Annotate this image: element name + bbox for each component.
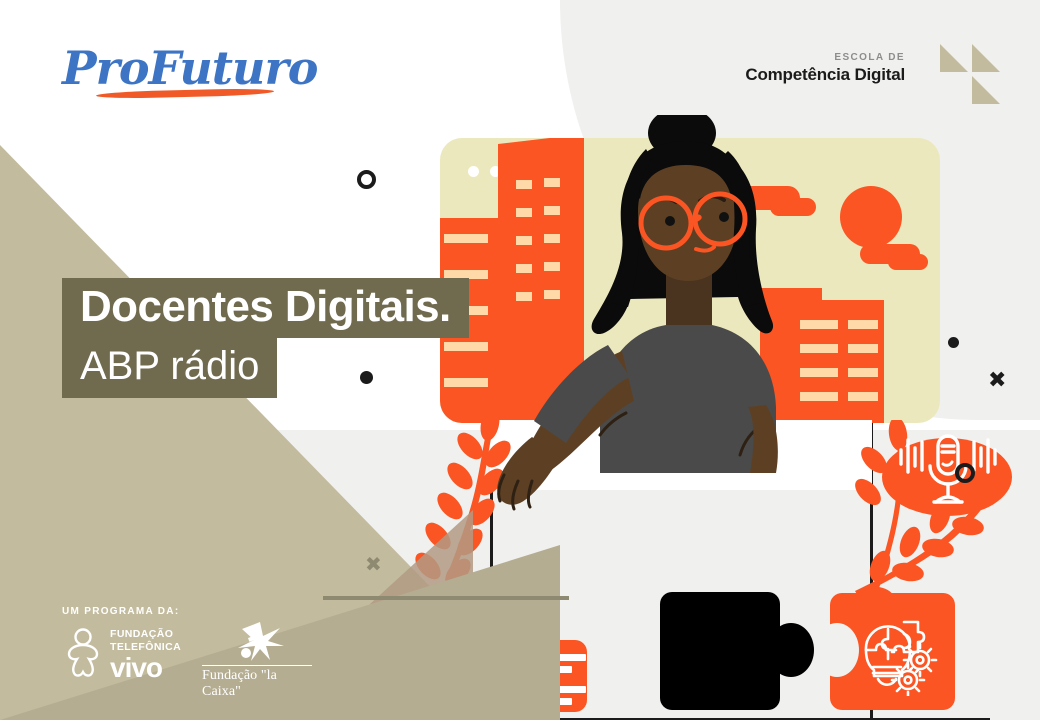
la-caixa-star-icon [230,620,286,662]
profuturo-logo[interactable]: ProFuturo [62,40,277,102]
khaki-rule [323,596,569,600]
pinwheel-triangle [940,44,968,72]
x-decoration-icon: ✖ [988,367,1006,393]
sun-shape [840,186,902,248]
building-window-bar [848,344,878,353]
character-illustration [480,115,840,555]
building-window-bar [848,368,878,377]
lightbulb-puzzle-gears-icon [848,610,940,696]
escola-competencia-digital-logo: ESCOLA DE Competência Digital [745,52,905,85]
profuturo-wordmark: ProFuturo [62,40,277,96]
pinwheel-triangle [972,44,1000,72]
pinwheel-triangle [972,76,1000,104]
pinwheel-logo-icon [940,44,1002,106]
puzzle-piece-black-tab [768,623,814,677]
window-dot [468,166,479,177]
ring-decoration-icon [357,170,376,189]
puzzle-piece-black [660,592,780,710]
building-window-bar [848,320,878,329]
la-caixa-rule [202,665,312,666]
dot-decoration-icon [948,337,959,348]
fundacao-telefonica-vivo-logo[interactable]: FUNDAÇÃO TELEFÔNICA vivo [62,624,187,686]
title-block: Docentes Digitais. ABP rádio [62,278,469,398]
fundacao-la-caixa-logo[interactable]: Fundação "la Caixa" [200,620,315,686]
vivo-wordmark: vivo [110,654,162,682]
program-label: UM PROGRAMA DA: [62,606,179,617]
title-line-1: Docentes Digitais. [62,278,469,338]
microphone-icon [898,430,998,526]
school-name: Competência Digital [745,65,905,85]
slide-canvas: ✔ [0,0,1040,720]
telefonica-wordmark: FUNDAÇÃO TELEFÔNICA [110,628,181,653]
building-window-bar [848,392,878,401]
x-decoration-icon: ✖ [365,552,382,577]
cloud-shape [888,254,928,270]
telefonica-person-icon [62,628,104,680]
title-line-2: ABP rádio [62,338,277,398]
ring-decoration-icon [955,463,975,483]
la-caixa-caption: Fundação "la Caixa" [202,668,315,700]
telefonica-line-1: FUNDAÇÃO [110,628,181,641]
school-kicker: ESCOLA DE [745,52,905,63]
